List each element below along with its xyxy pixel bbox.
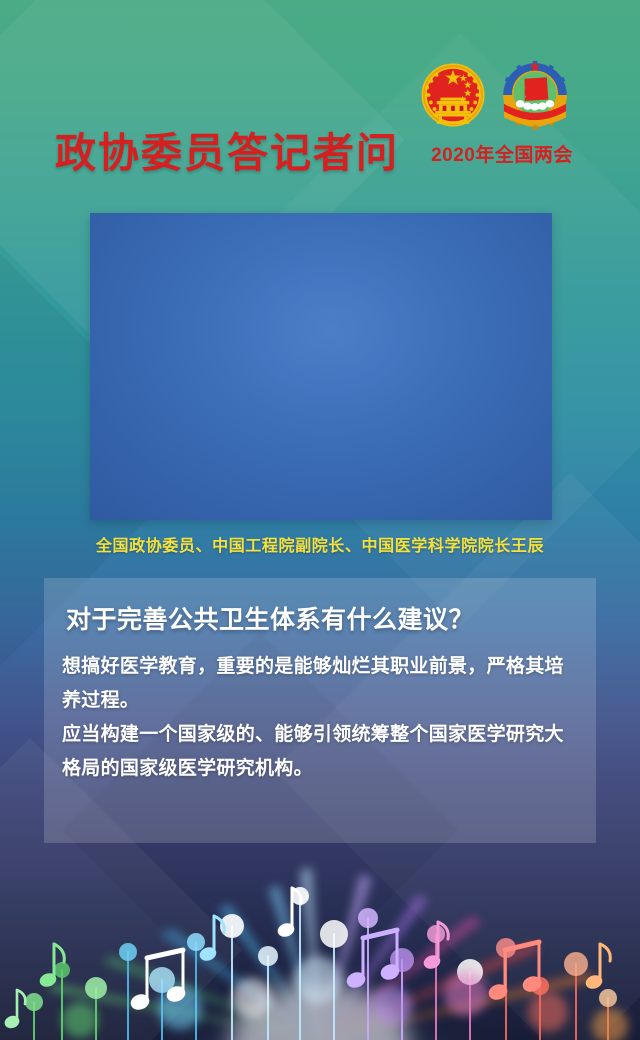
- speaker-photo: [90, 213, 552, 520]
- music-notes-graphic: [0, 830, 640, 1040]
- page-title: 政协委员答记者问: [55, 119, 399, 179]
- cppcc-emblem-icon: [498, 58, 572, 132]
- content-panel: 对于完善公共卫生体系有什么建议？ 想搞好医学教育，重要的是能够灿烂其职业前景，严…: [44, 578, 596, 843]
- national-emblem-of-china-icon: [416, 58, 490, 132]
- music-notes-bokeh-banner: [0, 830, 640, 1040]
- event-year-label: 2020年全国两会: [414, 140, 590, 167]
- answer-paragraph: 想搞好医学教育，重要的是能够灿烂其职业前景，严格其培养过程。: [62, 650, 578, 718]
- answer-body: 想搞好医学教育，重要的是能够灿烂其职业前景，严格其培养过程。 应当构建一个国家级…: [62, 650, 578, 786]
- poster-header: 政协委员答记者问: [0, 0, 640, 200]
- photo-caption: 全国政协委员、中国工程院副院长、中国医学科学院院长王辰: [0, 532, 640, 556]
- poster-canvas: 政协委员答记者问: [0, 0, 640, 1040]
- photo-backdrop: [90, 213, 552, 520]
- question-heading: 对于完善公共卫生体系有什么建议？: [66, 600, 474, 636]
- answer-paragraph: 应当构建一个国家级的、能够引领统筹整个国家医学研究大格局的国家级医学研究机构。: [62, 718, 578, 786]
